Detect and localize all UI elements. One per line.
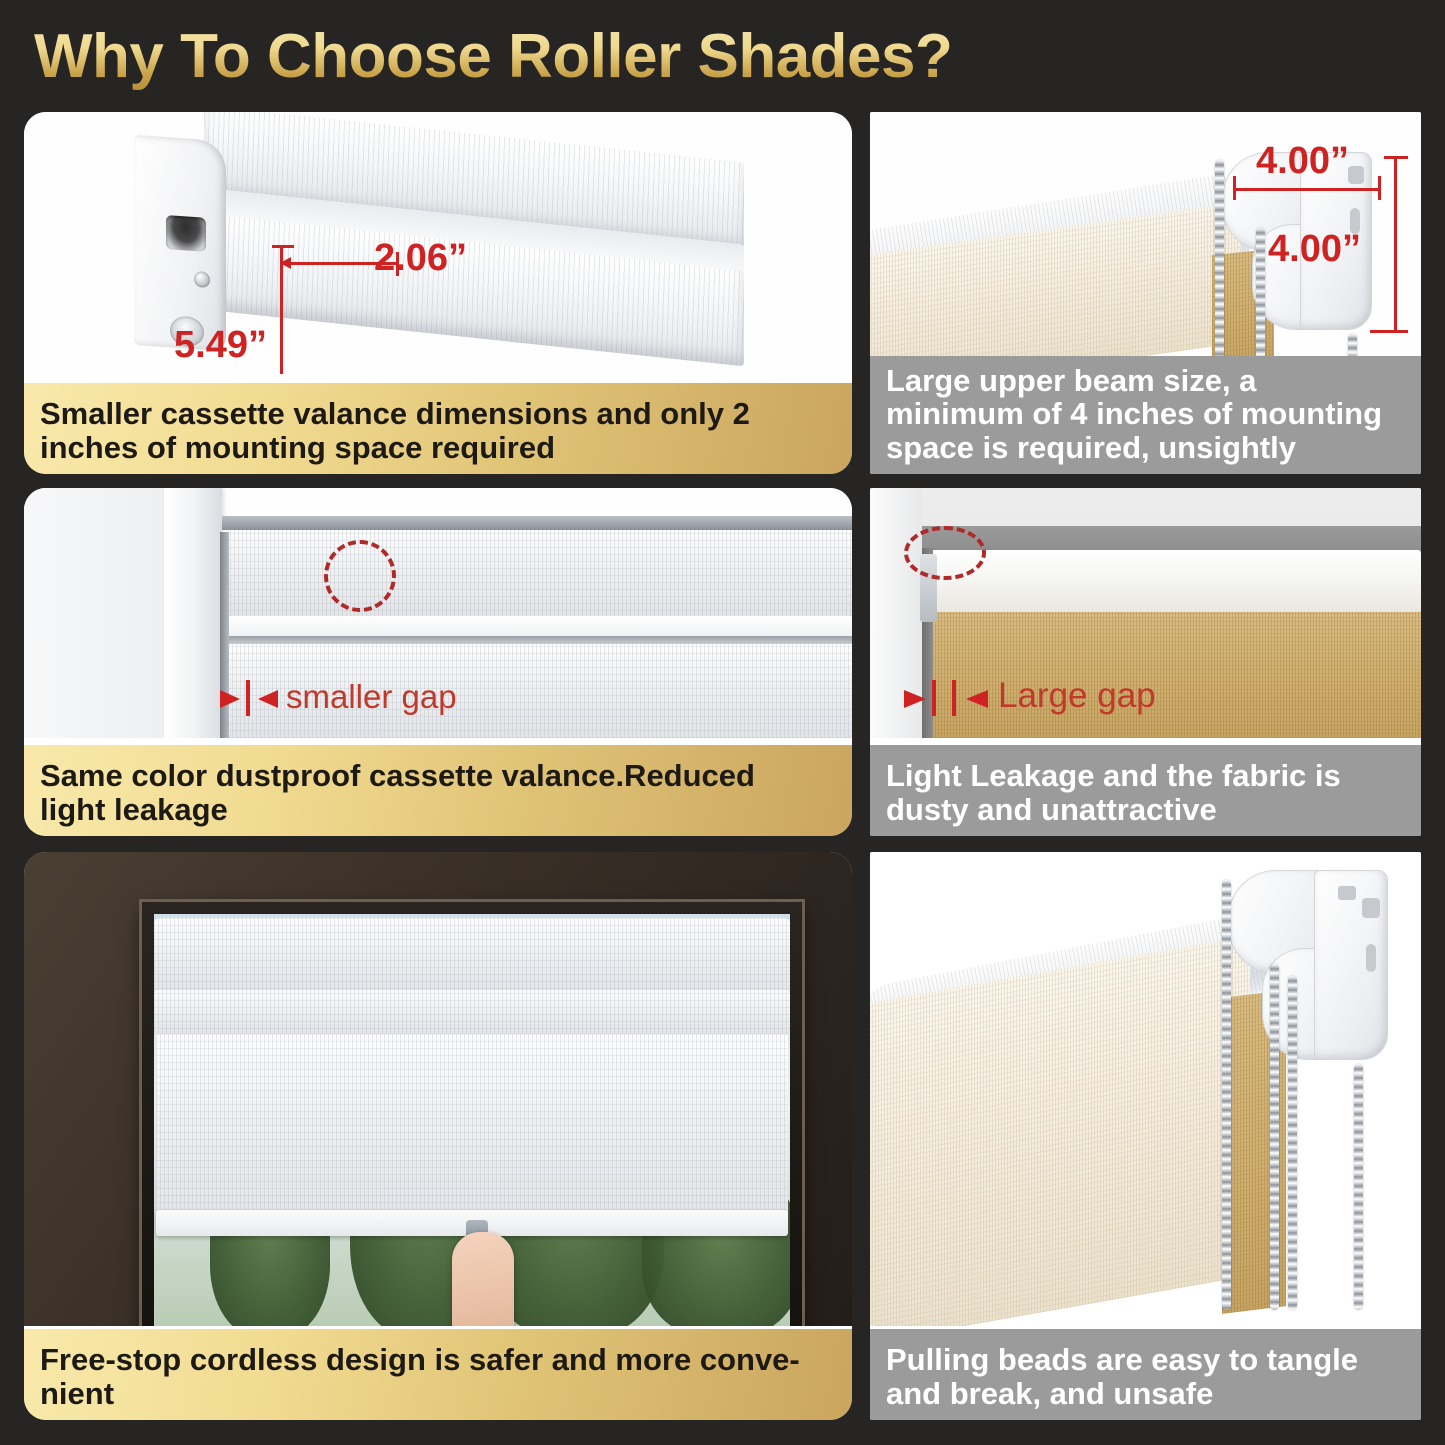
panel-pulling-beads: Pulling beads are easy to tangle and bre… (870, 852, 1421, 1420)
bead-chain-2 (1256, 228, 1265, 367)
cassette-valance-face (222, 530, 852, 618)
valance-end-bracket (134, 135, 226, 351)
caption-line-1: Same color dustproof cassette valance.Re… (40, 759, 836, 792)
caption-line-3: space is required, unsightly (886, 431, 1405, 464)
beam-width-line (1234, 188, 1380, 191)
panel-large-upper-beam: 4.00” 4.00” Large upper beam size, a min… (870, 112, 1421, 474)
mounting-plate-hole-1-icon (1338, 886, 1356, 900)
beam-width-label: 4.00” (1256, 140, 1349, 183)
smaller-gap-arrow-right (258, 690, 278, 708)
valance-shadow-line (222, 636, 852, 644)
panel-5-caption: Free-stop cordless design is safer and m… (24, 1329, 852, 1420)
large-gap-tick-1 (932, 680, 936, 716)
large-gap-arrow-left (904, 690, 926, 708)
smaller-gap-tick (246, 680, 250, 716)
panel-2-photo: 4.00” 4.00” (870, 112, 1421, 367)
shade-cassette-head (154, 918, 790, 996)
panel-3-photo: smaller gap (24, 488, 852, 738)
page-title: Why To Choose Roller Shades? (34, 18, 1134, 96)
highlight-circle (904, 526, 986, 580)
caption-line-2: nient (40, 1377, 836, 1410)
mounting-plate-hole-1-icon (1348, 166, 1364, 184)
caption-line-2: minimum of 4 inches of mounting (886, 397, 1405, 430)
panel-light-leakage: Large gap Light Leakage and the fabric i… (870, 488, 1421, 836)
panel-1-caption: Smaller cassette valance dimensions and … (24, 383, 852, 474)
shade-valance-lower (154, 990, 790, 1036)
large-gap-label: Large gap (998, 676, 1156, 716)
panel-5-photo (24, 852, 852, 1326)
panel-dustproof-cassette: smaller gap Same color dustproof cassett… (24, 488, 852, 836)
panel-4-caption: Light Leakage and the fabric is dusty an… (870, 745, 1421, 836)
highlight-circle (324, 540, 396, 612)
caption-line-2: and break, and unsafe (886, 1377, 1405, 1410)
beam-width-tick-right (1378, 176, 1381, 200)
smaller-gap-arrow-left (220, 690, 240, 708)
panel-smaller-cassette: 2.06” 5.49” Smaller cassette valance dim… (24, 112, 852, 474)
bead-chain-3[interactable] (1288, 976, 1297, 1310)
window-frame (142, 902, 802, 1326)
height-dimension-line (280, 245, 283, 374)
caption-line-2: dusty and unattractive (886, 793, 1405, 826)
roller-fabric-cream (870, 936, 1250, 1326)
caption-line-1: Free-stop cordless design is safer and m… (40, 1343, 836, 1376)
shade-fabric-body (156, 1034, 788, 1224)
mounting-plate-hole-3-icon (1366, 944, 1376, 972)
window-casing (164, 488, 222, 738)
height-dimension-label: 5.49” (174, 324, 267, 367)
beam-height-tick-bottom (1370, 330, 1408, 333)
panel-3-caption: Same color dustproof cassette valance.Re… (24, 745, 852, 836)
wall-left (24, 488, 174, 738)
bead-chain-2[interactable] (1270, 964, 1279, 1310)
caption-line-2: light leakage (40, 793, 836, 826)
panel-1-photo: 2.06” 5.49” (24, 112, 852, 374)
valance-bar (926, 550, 1421, 612)
caption-line-1: Pulling beads are easy to tangle (886, 1343, 1405, 1376)
height-dimension-tick-top (272, 245, 294, 248)
large-gap-tick-2 (952, 680, 956, 716)
panel-6-caption: Pulling beads are easy to tangle and bre… (870, 1329, 1421, 1420)
caption-line-1: Light Leakage and the fabric is (886, 759, 1405, 792)
large-gap-arrow-right (966, 690, 988, 708)
caption-line-2: inches of mounting space required (40, 431, 836, 464)
bead-chain-1 (1215, 160, 1224, 366)
bead-chain-1[interactable] (1222, 880, 1231, 1310)
panel-2-caption: Large upper beam size, a minimum of 4 in… (870, 356, 1421, 474)
width-dimension-label: 2.06” (374, 237, 467, 280)
bead-chain-4[interactable] (1354, 1064, 1363, 1310)
beam-width-tick-left (1233, 176, 1236, 200)
bracket-slot-icon (166, 215, 206, 252)
panel-cordless-design: Free-stop cordless design is safer and m… (24, 852, 852, 1420)
beam-height-tick-top (1384, 156, 1408, 159)
bracket-screw-upper-icon (194, 271, 210, 288)
window-head-trim (222, 516, 852, 530)
caption-line-1: Smaller cassette valance dimensions and … (40, 397, 836, 430)
smaller-gap-label: smaller gap (286, 678, 457, 716)
caption-line-1: Large upper beam size, a (886, 364, 1405, 397)
beam-height-label: 4.00” (1268, 228, 1361, 271)
panel-6-photo (870, 852, 1421, 1326)
panel-4-photo: Large gap (870, 488, 1421, 738)
mounting-plate-hole-2-icon (1362, 898, 1380, 918)
beam-height-line (1394, 156, 1397, 332)
hand-pulling-shade (452, 1232, 514, 1326)
valance-lower-lip (222, 616, 852, 638)
dusty-tan-fabric (932, 612, 1421, 738)
